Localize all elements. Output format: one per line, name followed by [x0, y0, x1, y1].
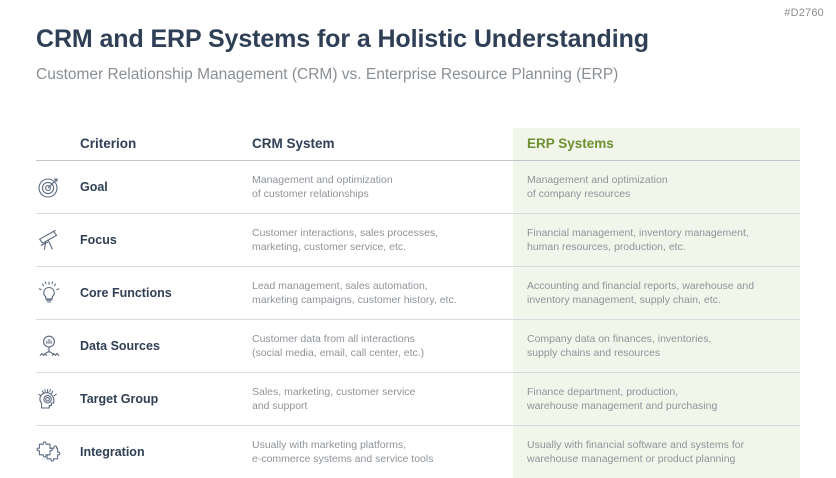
crm-cell: Customer interactions, sales processes, …: [252, 214, 513, 267]
criterion-label: Integration: [80, 426, 252, 478]
crm-cell: Customer data from all interactions (soc…: [252, 320, 513, 373]
column-header-crm: CRM System: [252, 128, 513, 158]
head-target-icon: [36, 386, 62, 412]
erp-cell: Management and optimization of company r…: [513, 161, 800, 214]
column-header-criterion: Criterion: [80, 128, 252, 158]
criterion-label: Core Functions: [80, 267, 252, 320]
row-icon-cell: [36, 161, 80, 214]
page-subtitle: Customer Relationship Management (CRM) v…: [36, 65, 796, 85]
crm-cell: Usually with marketing platforms, e-comm…: [252, 426, 513, 478]
table-row: Data Sources Customer data from all inte…: [36, 320, 800, 373]
crm-cell: Lead management, sales automation, marke…: [252, 267, 513, 320]
document-id: #D2760: [784, 7, 824, 19]
comparison-table-wrapper: Criterion CRM System ERP Systems: [36, 128, 800, 478]
table-row: Target Group Sales, marketing, customer …: [36, 373, 800, 426]
telescope-icon: [36, 227, 62, 253]
criterion-label: Target Group: [80, 373, 252, 426]
comparison-table: Criterion CRM System ERP Systems: [36, 128, 800, 478]
criterion-label: Focus: [80, 214, 252, 267]
criterion-label: Data Sources: [80, 320, 252, 373]
row-icon-cell: [36, 214, 80, 267]
table-body: Goal Management and optimization of cust…: [36, 161, 800, 478]
erp-cell: Financial management, inventory manageme…: [513, 214, 800, 267]
table-row: Core Functions Lead management, sales au…: [36, 267, 800, 320]
table-header-row: Criterion CRM System ERP Systems: [36, 128, 800, 158]
crm-cell: Sales, marketing, customer service and s…: [252, 373, 513, 426]
erp-cell: Finance department, production, warehous…: [513, 373, 800, 426]
header-cell-icon: [36, 128, 80, 158]
table-row: Integration Usually with marketing platf…: [36, 426, 800, 478]
column-header-erp: ERP Systems: [513, 128, 800, 158]
crm-cell: Management and optimization of customer …: [252, 161, 513, 214]
header-block: CRM and ERP Systems for a Holistic Under…: [36, 24, 796, 85]
target-arrow-icon: [36, 174, 62, 200]
row-icon-cell: [36, 320, 80, 373]
lightbulb-idea-icon: [36, 280, 62, 306]
row-icon-cell: [36, 426, 80, 478]
row-icon-cell: [36, 267, 80, 320]
erp-cell: Company data on finances, inventories, s…: [513, 320, 800, 373]
row-icon-cell: [36, 373, 80, 426]
table-header: Criterion CRM System ERP Systems: [36, 128, 800, 161]
table-row: Focus Customer interactions, sales proce…: [36, 214, 800, 267]
erp-cell: Accounting and financial reports, wareho…: [513, 267, 800, 320]
table-row: Goal Management and optimization of cust…: [36, 161, 800, 214]
erp-cell: Usually with financial software and syst…: [513, 426, 800, 478]
page-title: CRM and ERP Systems for a Holistic Under…: [36, 24, 796, 54]
criterion-label: Goal: [80, 161, 252, 214]
puzzle-pieces-icon: [36, 439, 62, 465]
magnifier-chart-network-icon: [36, 333, 62, 359]
